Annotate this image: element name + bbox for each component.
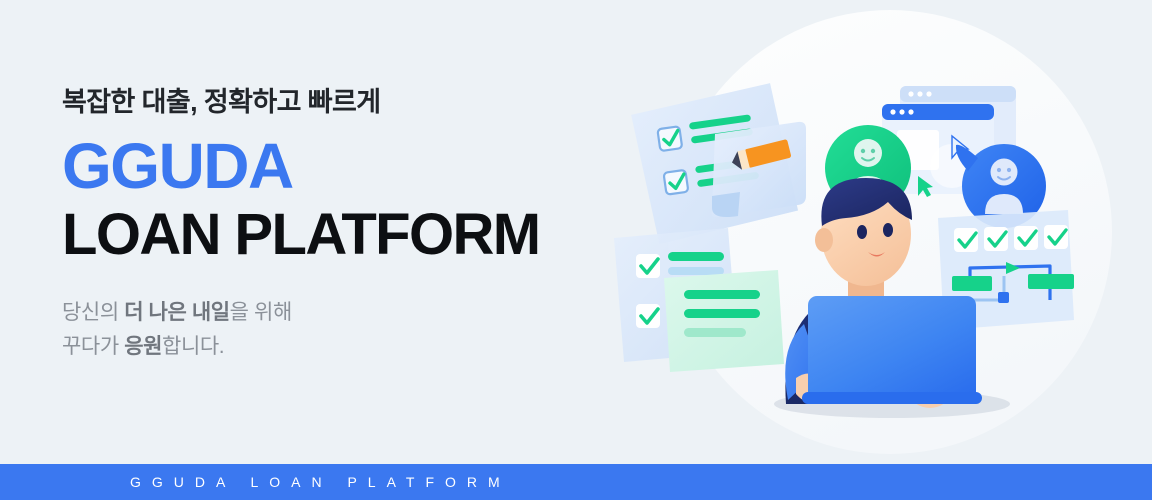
laptop — [802, 296, 982, 404]
hero-illustration — [600, 0, 1152, 464]
mint-note-card — [664, 270, 784, 372]
bottom-ribbon: GGUDA LOAN PLATFORM — [0, 464, 1152, 500]
tagline-line-1: 당신의 더 나은 내일을 위해 — [62, 296, 622, 330]
tagline-1-pre: 당신의 — [62, 301, 124, 324]
tagline-line-2: 꾸다가 응원합니다. — [62, 330, 622, 364]
tagline-2-bold: 응원 — [124, 335, 162, 358]
tagline-1-bold: 더 나은 내일 — [124, 301, 229, 324]
product-name: LOAN PLATFORM — [62, 205, 622, 266]
hero-eyebrow: 복잡한 대출, 정확하고 빠르게 — [62, 86, 622, 120]
pencil-note-card — [712, 122, 806, 217]
hero-copy: 복잡한 대출, 정확하고 빠르게 GGUDA LOAN PLATFORM 당신의… — [62, 86, 622, 364]
hero-tagline: 당신의 더 나은 내일을 위해 꾸다가 응원합니다. — [62, 296, 622, 364]
tagline-2-post: 합니다. — [162, 335, 224, 358]
tagline-2-pre: 꾸다가 — [62, 335, 124, 358]
hero-banner: 복잡한 대출, 정확하고 빠르게 GGUDA LOAN PLATFORM 당신의… — [0, 0, 1152, 500]
brand-name: GGUDA — [62, 134, 622, 199]
tagline-1-post: 을 위해 — [230, 301, 292, 324]
ribbon-text: GGUDA LOAN PLATFORM — [130, 464, 511, 500]
